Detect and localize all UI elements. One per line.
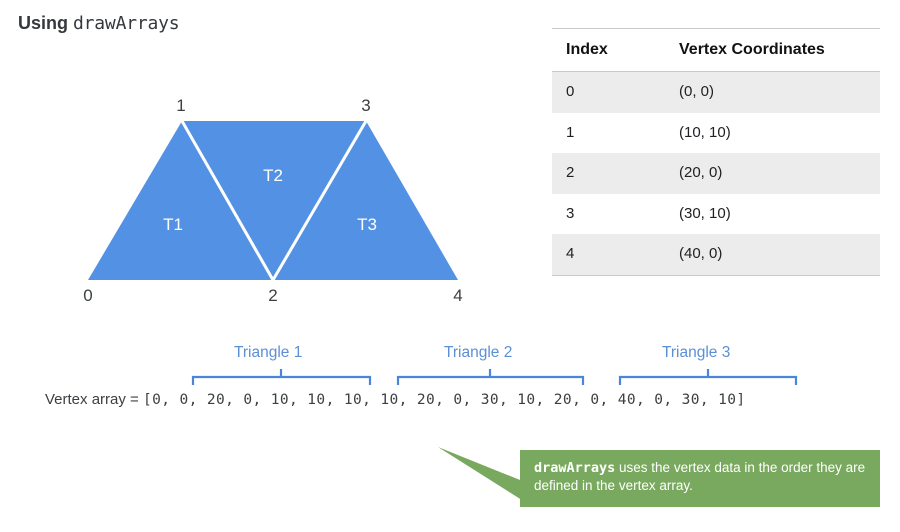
triangle-diagram: T1 T2 T3 0 1 2 3 4	[0, 85, 520, 310]
table-cell-index: 0	[552, 72, 665, 113]
vertex-label-4: 4	[453, 286, 462, 305]
table-row: 1 (10, 10)	[552, 113, 880, 154]
table-header-index: Index	[552, 29, 665, 72]
table-header: Index Vertex Coordinates	[552, 29, 880, 72]
triangle-label-t3: T3	[357, 215, 377, 234]
callout-tail-shape	[438, 447, 525, 502]
triangle-label-t1: T1	[163, 215, 183, 234]
bracket-label-triangle-2: Triangle 2	[444, 344, 512, 362]
table-cell-coords: (0, 0)	[665, 72, 880, 113]
vertex-array-label: Vertex array =	[45, 391, 143, 408]
table-cell-coords: (20, 0)	[665, 153, 880, 194]
table-cell-coords: (10, 10)	[665, 113, 880, 154]
vertex-label-3: 3	[361, 96, 370, 115]
vertex-coordinates-table: Index Vertex Coordinates 0 (0, 0) 1 (10,…	[552, 28, 880, 276]
page-title-prefix: Using	[18, 13, 73, 33]
bracket-triangle-3	[620, 377, 796, 385]
table-cell-index: 2	[552, 153, 665, 194]
table-header-coords: Vertex Coordinates	[665, 29, 880, 72]
vertex-label-2: 2	[268, 286, 277, 305]
vertex-label-0: 0	[83, 286, 92, 305]
table-row: 4 (40, 0)	[552, 234, 880, 275]
callout-annotation: drawArrays uses the vertex data in the o…	[430, 440, 885, 515]
vertex-label-1: 1	[176, 96, 185, 115]
vertex-array-line: Vertex array = [0, 0, 20, 0, 10, 10, 10,…	[45, 391, 746, 408]
table-row: 2 (20, 0)	[552, 153, 880, 194]
triangle-label-t2: T2	[263, 166, 283, 185]
table-cell-coords: (30, 10)	[665, 194, 880, 235]
table-row: 3 (30, 10)	[552, 194, 880, 235]
page-title-mono: drawArrays	[73, 13, 179, 34]
table-cell-index: 3	[552, 194, 665, 235]
bracket-label-triangle-1: Triangle 1	[234, 344, 302, 362]
table-body: 0 (0, 0) 1 (10, 10) 2 (20, 0) 3 (30, 10)…	[552, 72, 880, 276]
triangle-diagram-svg: T1 T2 T3 0 1 2 3 4	[0, 85, 520, 310]
bracket-triangle-1	[193, 377, 370, 385]
trapezoid-shape	[88, 121, 458, 280]
bracket-triangle-2	[398, 377, 583, 385]
bracket-label-triangle-3: Triangle 3	[662, 344, 730, 362]
slide-canvas: Using drawArrays T1 T2 T3 0 1 2 3 4	[0, 0, 900, 532]
table-cell-index: 4	[552, 234, 665, 275]
table-cell-coords: (40, 0)	[665, 234, 880, 275]
callout-text: drawArrays uses the vertex data in the o…	[534, 459, 874, 495]
callout-text-mono: drawArrays	[534, 460, 615, 476]
bracket-group	[0, 364, 900, 388]
vertex-array-values: [0, 0, 20, 0, 10, 10, 10, 10, 20, 0, 30,…	[143, 392, 746, 408]
table-row: 0 (0, 0)	[552, 72, 880, 113]
table-cell-index: 1	[552, 113, 665, 154]
table-header-row: Index Vertex Coordinates	[552, 29, 880, 72]
page-title: Using drawArrays	[18, 13, 179, 34]
